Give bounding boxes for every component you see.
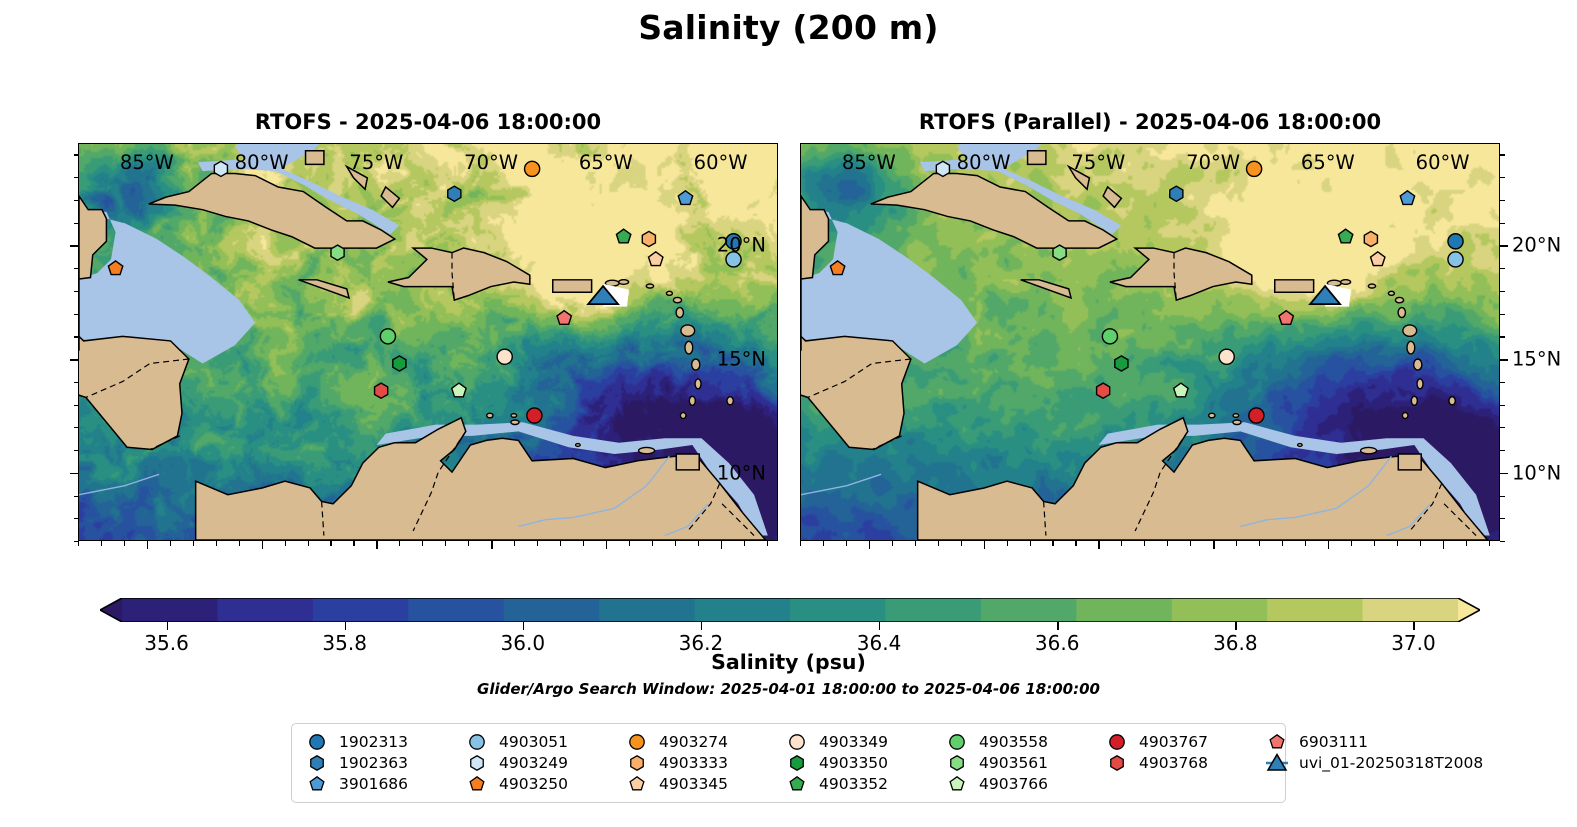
y-tick-minor: [74, 223, 79, 224]
x-tick-minor: [216, 541, 217, 546]
legend-entry[interactable]: 6903111: [1262, 731, 1512, 753]
y-tick-label: 20°N: [1512, 234, 1561, 257]
legend-marker-circle-icon: [622, 731, 652, 753]
y-tick-minor: [74, 336, 79, 337]
x-tick-major: [376, 541, 378, 549]
y-tick-minor: [74, 200, 79, 201]
x-tick-label: 65°W: [579, 151, 633, 174]
x-tick-minor: [537, 541, 538, 546]
x-tick-minor: [193, 541, 194, 546]
map-panel-rtofs: RTOFS - 2025-04-06 18:00:00 85°W80°W75°W…: [78, 143, 778, 541]
legend-entry[interactable]: 3901686: [302, 773, 462, 795]
y-tick-minor: [1500, 518, 1505, 519]
x-tick-major: [984, 541, 986, 549]
legend-entry[interactable]: 4903768: [1102, 752, 1262, 774]
x-tick-label: 75°W: [1071, 151, 1125, 174]
y-tick-minor: [74, 518, 79, 519]
y-tick-major: [70, 245, 78, 247]
panel-title-rtofs: RTOFS - 2025-04-06 18:00:00: [78, 110, 778, 134]
legend-label: 3901686: [332, 775, 408, 793]
legend-marker-pentagon-icon: [622, 773, 652, 795]
x-tick-minor: [399, 541, 400, 546]
x-tick-minor: [1190, 541, 1191, 546]
x-tick-minor: [170, 541, 171, 546]
x-tick-minor: [1007, 541, 1008, 546]
y-tick-minor: [1500, 314, 1505, 315]
legend-marker-hexagon-icon: [942, 752, 972, 774]
x-tick-major: [869, 541, 871, 549]
y-tick-label: 20°N: [717, 234, 766, 257]
y-tick-minor: [1500, 200, 1505, 201]
legend-label: 4903333: [652, 754, 728, 772]
search-window-caption: Glider/Argo Search Window: 2025-04-01 18…: [0, 680, 1577, 698]
y-tick-minor: [74, 450, 79, 451]
legend-label: 4903350: [812, 754, 888, 772]
legend-entry[interactable]: 4903333: [622, 752, 782, 774]
colorbar-title: Salinity (psu): [0, 650, 1577, 674]
x-tick-minor: [915, 541, 916, 546]
x-tick-major: [721, 541, 723, 549]
y-tick-label: 10°N: [717, 461, 766, 484]
colorbar-tick: [345, 622, 346, 630]
legend-marker-pentagon-icon: [302, 773, 332, 795]
x-tick-minor: [308, 541, 309, 546]
legend-entry[interactable]: 4903250: [462, 773, 622, 795]
legend-marker-circle-icon: [302, 731, 332, 753]
x-tick-label: 70°W: [464, 151, 518, 174]
x-tick-minor: [583, 541, 584, 546]
legend-entry[interactable]: uvi_01-20250318T2008: [1262, 752, 1512, 774]
x-tick-minor: [744, 541, 745, 546]
x-tick-minor: [239, 541, 240, 546]
legend-entry[interactable]: 4903249: [462, 752, 622, 774]
legend-entry[interactable]: 4903352: [782, 773, 942, 795]
legend-label: uvi_01-20250318T2008: [1292, 754, 1483, 772]
y-tick-major: [70, 359, 78, 361]
y-tick-major: [1500, 359, 1508, 361]
colorbar[interactable]: 35.635.836.036.236.436.636.837.0: [100, 598, 1480, 622]
x-tick-minor: [560, 541, 561, 546]
x-tick-minor: [78, 541, 79, 546]
legend-marker-hexagon-icon: [622, 752, 652, 774]
legend-entry[interactable]: 4903767: [1102, 731, 1262, 753]
legend-label: 4903274: [652, 733, 728, 751]
legend-entry[interactable]: 4903051: [462, 731, 622, 753]
y-tick-minor: [1500, 427, 1505, 428]
x-tick-minor: [675, 541, 676, 546]
x-tick-major: [1328, 541, 1330, 549]
x-tick-minor: [101, 541, 102, 546]
x-tick-minor: [124, 541, 125, 546]
x-tick-minor: [1075, 541, 1076, 546]
x-tick-minor: [1489, 541, 1490, 546]
y-tick-minor: [74, 541, 79, 542]
x-tick-minor: [514, 541, 515, 546]
x-tick-minor: [468, 541, 469, 546]
x-tick-minor: [422, 541, 423, 546]
x-tick-minor: [1052, 541, 1053, 546]
legend-entry[interactable]: 1902313: [302, 731, 462, 753]
legend-marker-pentagon-icon: [462, 773, 492, 795]
x-tick-minor: [285, 541, 286, 546]
x-tick-minor: [1259, 541, 1260, 546]
x-tick-minor: [1466, 541, 1467, 546]
map-canvas-rtofs-parallel[interactable]: [800, 143, 1500, 541]
x-tick-minor: [629, 541, 630, 546]
legend-label: 4903766: [972, 775, 1048, 793]
x-tick-label: 75°W: [349, 151, 403, 174]
page-title: Salinity (200 m): [0, 8, 1577, 47]
x-tick-label: 85°W: [120, 151, 174, 174]
y-tick-major: [1500, 245, 1508, 247]
y-tick-minor: [74, 314, 79, 315]
x-tick-minor: [1236, 541, 1237, 546]
y-tick-minor: [1500, 223, 1505, 224]
legend-label: 4903250: [492, 775, 568, 793]
legend-label: 4903352: [812, 775, 888, 793]
x-tick-label: 80°W: [235, 151, 289, 174]
x-tick-major: [1443, 541, 1445, 549]
x-tick-label: 80°W: [957, 151, 1011, 174]
x-tick-label: 60°W: [694, 151, 748, 174]
x-tick-label: 65°W: [1301, 151, 1355, 174]
map-panel-rtofs-parallel: RTOFS (Parallel) - 2025-04-06 18:00:00 8…: [800, 143, 1500, 541]
y-tick-minor: [74, 496, 79, 497]
x-tick-minor: [800, 541, 801, 546]
x-tick-minor: [1420, 541, 1421, 546]
x-tick-major: [147, 541, 149, 549]
x-tick-minor: [938, 541, 939, 546]
legend-entry[interactable]: 4903274: [622, 731, 782, 753]
legend-label: 4903345: [652, 775, 728, 793]
legend-marker-hexagon-icon: [1102, 752, 1132, 774]
x-tick-minor: [1374, 541, 1375, 546]
x-tick-minor: [698, 541, 699, 546]
y-tick-minor: [1500, 541, 1505, 542]
x-tick-major: [1098, 541, 1100, 549]
y-tick-label: 15°N: [1512, 348, 1561, 371]
legend-label: 1902313: [332, 733, 408, 751]
legend-entry[interactable]: 4903345: [622, 773, 782, 795]
x-tick-major: [262, 541, 264, 549]
legend-marker-pentagon-icon: [782, 773, 812, 795]
x-tick-minor: [330, 541, 331, 546]
legend-marker-circle-icon: [462, 731, 492, 753]
x-tick-minor: [1030, 541, 1031, 546]
y-tick-minor: [74, 268, 79, 269]
x-tick-label: 70°W: [1186, 151, 1240, 174]
y-tick-minor: [74, 382, 79, 383]
x-tick-major: [606, 541, 608, 549]
x-tick-minor: [846, 541, 847, 546]
legend: 1902313490305149032744903349490355849037…: [291, 723, 1286, 803]
legend-entry[interactable]: 1902363: [302, 752, 462, 774]
y-tick-minor: [74, 177, 79, 178]
legend-marker-pentagon-icon: [1262, 731, 1292, 753]
colorbar-tick: [879, 622, 880, 630]
x-tick-minor: [445, 541, 446, 546]
x-tick-minor: [1397, 541, 1398, 546]
legend-label: 4903558: [972, 733, 1048, 751]
map-canvas-rtofs[interactable]: [78, 143, 778, 541]
colorbar-tick: [1057, 622, 1058, 630]
legend-marker-triangle-icon: [1262, 752, 1292, 774]
y-tick-minor: [74, 405, 79, 406]
x-tick-minor: [353, 541, 354, 546]
legend-marker-pentagon-icon: [942, 773, 972, 795]
legend-label: 4903051: [492, 733, 568, 751]
colorbar-tick: [701, 622, 702, 630]
colorbar-tick: [1235, 622, 1236, 630]
y-tick-minor: [1500, 450, 1505, 451]
y-tick-minor: [74, 291, 79, 292]
y-tick-minor: [1500, 382, 1505, 383]
x-tick-minor: [1144, 541, 1145, 546]
legend-label: 1902363: [332, 754, 408, 772]
legend-row: 1902313490305149032744903349490355849037…: [302, 731, 1275, 752]
panel-title-rtofs-parallel: RTOFS (Parallel) - 2025-04-06 18:00:00: [800, 110, 1500, 134]
y-tick-minor: [1500, 268, 1505, 269]
y-tick-minor: [74, 427, 79, 428]
x-tick-minor: [1167, 541, 1168, 546]
legend-marker-circle-icon: [942, 731, 972, 753]
x-tick-label: 60°W: [1416, 151, 1470, 174]
x-tick-minor: [892, 541, 893, 546]
y-tick-minor: [1500, 291, 1505, 292]
x-tick-minor: [1121, 541, 1122, 546]
y-tick-major: [70, 473, 78, 475]
x-tick-minor: [1282, 541, 1283, 546]
x-tick-minor: [1351, 541, 1352, 546]
legend-entry[interactable]: 4903350: [782, 752, 942, 774]
legend-marker-hexagon-icon: [302, 752, 332, 774]
y-tick-minor: [1500, 496, 1505, 497]
legend-entry[interactable]: 4903349: [782, 731, 942, 753]
y-tick-label: 15°N: [717, 348, 766, 371]
y-tick-minor: [1500, 336, 1505, 337]
x-tick-minor: [961, 541, 962, 546]
legend-label: 4903249: [492, 754, 568, 772]
legend-entry[interactable]: 4903766: [942, 773, 1102, 795]
legend-label: 4903561: [972, 754, 1048, 772]
x-tick-minor: [823, 541, 824, 546]
legend-marker-circle-icon: [782, 731, 812, 753]
legend-marker-hexagon-icon: [782, 752, 812, 774]
x-tick-major: [1213, 541, 1215, 549]
x-tick-minor: [652, 541, 653, 546]
x-tick-minor: [1305, 541, 1306, 546]
y-tick-minor: [1500, 154, 1505, 155]
colorbar-tick: [167, 622, 168, 630]
y-tick-minor: [1500, 405, 1505, 406]
legend-marker-hexagon-icon: [462, 752, 492, 774]
legend-label: 4903768: [1132, 754, 1208, 772]
x-tick-minor: [767, 541, 768, 546]
colorbar-tick: [1413, 622, 1414, 630]
legend-label: 6903111: [1292, 733, 1368, 751]
legend-row: 39016864903250490334549033524903766: [302, 773, 1275, 794]
y-tick-minor: [74, 154, 79, 155]
y-tick-major: [1500, 473, 1508, 475]
y-tick-minor: [1500, 177, 1505, 178]
x-tick-major: [491, 541, 493, 549]
legend-entry[interactable]: 4903561: [942, 752, 1102, 774]
legend-row: 1902363490324949033334903350490356149037…: [302, 752, 1275, 773]
y-tick-label: 10°N: [1512, 461, 1561, 484]
legend-entry[interactable]: 4903558: [942, 731, 1102, 753]
legend-marker-circle-icon: [1102, 731, 1132, 753]
colorbar-tick: [523, 622, 524, 630]
legend-label: 4903767: [1132, 733, 1208, 751]
legend-label: 4903349: [812, 733, 888, 751]
x-tick-label: 85°W: [842, 151, 896, 174]
